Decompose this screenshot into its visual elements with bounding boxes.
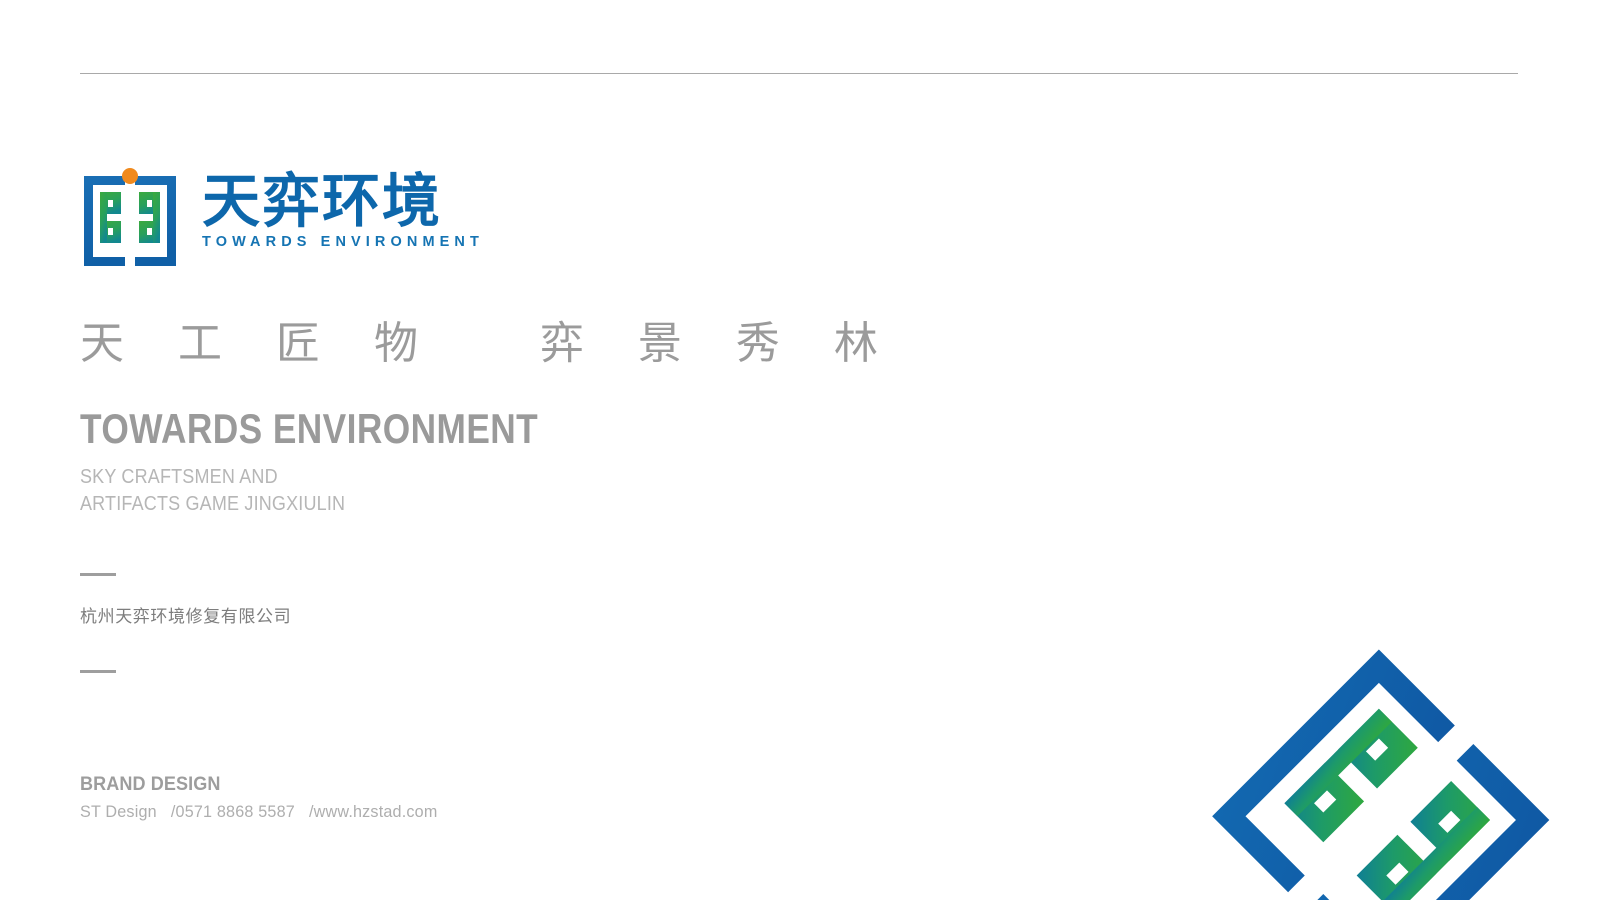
divider-dash-bottom [80, 670, 116, 673]
logo-wordmark: 天弈环境 TOWARDS ENVIRONMENT [202, 166, 484, 250]
logo-english-name: TOWARDS ENVIRONMENT [202, 234, 484, 250]
top-divider-rule [80, 73, 1518, 74]
rotated-seal-corner-graphic [1180, 500, 1600, 900]
headline-english-subtitle: SKY CRAFTSMEN AND ARTIFACTS GAME JINGXIU… [80, 464, 345, 518]
brand-cover-page: 天弈环境 TOWARDS ENVIRONMENT 天 工 匠 物 弈 景 秀 林… [0, 0, 1600, 900]
logo-chinese-name: 天弈环境 [202, 172, 484, 231]
footer-title: BRAND DESIGN [80, 775, 221, 794]
headline-english-title: TOWARDS ENVIRONMENT [80, 408, 538, 450]
headline-chinese-slogan: 天 工 匠 物 弈 景 秀 林 [80, 322, 898, 366]
orange-dot [122, 168, 138, 184]
company-name: 杭州天弈环境修复有限公司 [80, 606, 291, 628]
divider-dash-top [80, 573, 116, 576]
footer-contact-line: ST Design /0571 8868 5587 /www.hzstad.co… [80, 802, 437, 822]
tianyi-seal-mark-icon [80, 166, 180, 266]
logo-lockup: 天弈环境 TOWARDS ENVIRONMENT [80, 166, 484, 266]
